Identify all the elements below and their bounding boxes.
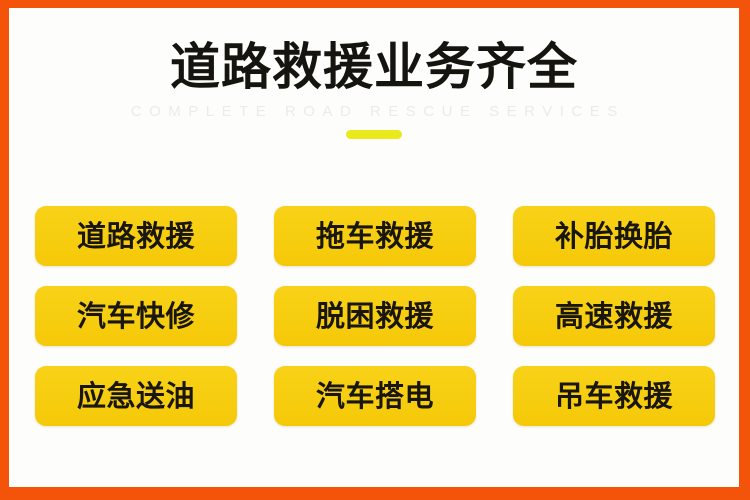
service-button-tow-rescue[interactable]: 拖车救援: [274, 206, 476, 266]
header: 道路救援业务齐全 COMPLETE ROAD RESCUE SERVICES: [9, 40, 739, 139]
page-subtitle: COMPLETE ROAD RESCUE SERVICES: [9, 104, 739, 119]
service-button-label: 补胎换胎: [555, 222, 673, 251]
page-title: 道路救援业务齐全: [9, 40, 739, 94]
service-button-grid: 道路救援 拖车救援 补胎换胎 汽车快修 脱困救援 高速救援 应急送油 汽车搭电: [35, 206, 715, 426]
service-button-label: 高速救援: [555, 302, 673, 331]
service-button-quick-car-repair[interactable]: 汽车快修: [35, 286, 237, 346]
service-button-crane-rescue[interactable]: 吊车救援: [513, 366, 715, 426]
service-button-jump-start[interactable]: 汽车搭电: [274, 366, 476, 426]
service-button-extrication-rescue[interactable]: 脱困救援: [274, 286, 476, 346]
service-button-label: 应急送油: [77, 382, 195, 411]
service-button-label: 脱困救援: [316, 302, 434, 331]
service-button-label: 道路救援: [77, 222, 195, 251]
service-button-label: 汽车快修: [77, 302, 195, 331]
service-button-label: 汽车搭电: [316, 382, 434, 411]
poster-frame: 道路救援业务齐全 COMPLETE ROAD RESCUE SERVICES 道…: [0, 0, 750, 500]
service-button-emergency-fuel-delivery[interactable]: 应急送油: [35, 366, 237, 426]
service-button-tire-repair-replace[interactable]: 补胎换胎: [513, 206, 715, 266]
service-button-highway-rescue[interactable]: 高速救援: [513, 286, 715, 346]
service-button-label: 吊车救援: [555, 382, 673, 411]
poster-canvas: 道路救援业务齐全 COMPLETE ROAD RESCUE SERVICES 道…: [9, 8, 739, 487]
accent-bar: [346, 130, 402, 139]
service-button-road-rescue[interactable]: 道路救援: [35, 206, 237, 266]
service-button-label: 拖车救援: [316, 222, 434, 251]
